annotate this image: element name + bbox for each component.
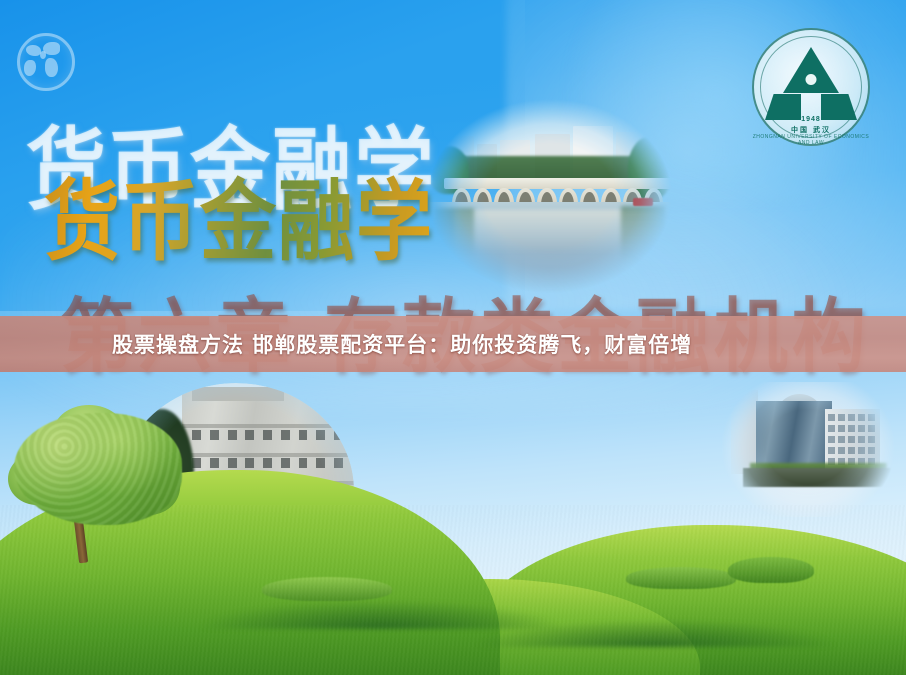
tree-crown bbox=[14, 413, 182, 525]
campus-window bbox=[334, 430, 343, 440]
modern-window bbox=[868, 436, 875, 442]
modern-window bbox=[858, 447, 865, 453]
photo-bridge bbox=[424, 96, 676, 296]
campus-window bbox=[228, 430, 237, 440]
campus-window bbox=[281, 430, 290, 440]
modern-window bbox=[848, 425, 855, 431]
emblem-latin-name: ZHONGNAN UNIVERSITY OF ECONOMICS AND LAW bbox=[752, 134, 870, 146]
course-title-gold: 货币金融学 bbox=[44, 150, 434, 278]
modern-window bbox=[838, 414, 845, 420]
university-emblem: 1948 中国 武汉 ZHONGNAN UNIVERSITY OF ECONOM… bbox=[752, 28, 870, 146]
modern-window bbox=[828, 414, 835, 420]
modern-window bbox=[868, 425, 875, 431]
campus-window bbox=[210, 430, 219, 440]
emblem-year: 1948 bbox=[752, 116, 870, 123]
modern-window bbox=[868, 447, 875, 453]
foreground-tree bbox=[14, 413, 182, 563]
emblem-center-dot bbox=[806, 74, 817, 85]
grass-ground bbox=[0, 460, 906, 675]
article-headline: 股票操盘方法 邯郸股票配资平台：助你投资腾飞，财富倍增 bbox=[112, 329, 692, 359]
modern-window bbox=[848, 414, 855, 420]
campus-window bbox=[245, 430, 254, 440]
modern-window bbox=[838, 436, 845, 442]
campus-window bbox=[192, 430, 201, 440]
modern-window bbox=[848, 447, 855, 453]
campus-window bbox=[299, 430, 308, 440]
modern-window bbox=[858, 414, 865, 420]
bridge-red-boat bbox=[633, 198, 653, 206]
modern-window bbox=[858, 425, 865, 431]
modern-window bbox=[868, 414, 875, 420]
modern-window bbox=[848, 436, 855, 442]
bridge-reflection-left bbox=[434, 208, 474, 260]
campus-facade-band bbox=[182, 453, 354, 457]
emblem-triangle-top bbox=[783, 47, 839, 93]
banner-image: 货币金融学 货币金融学 1948 中国 武汉 ZHONGNAN UNIVERSI… bbox=[0, 0, 906, 675]
campus-window bbox=[263, 430, 272, 440]
modern-window bbox=[828, 436, 835, 442]
modern-window bbox=[838, 425, 845, 431]
modern-window bbox=[828, 447, 835, 453]
article-title-bar: 股票操盘方法 邯郸股票配资平台：助你投资腾飞，财富倍增 bbox=[0, 316, 906, 372]
campus-roof-step bbox=[192, 387, 284, 401]
modern-window bbox=[828, 425, 835, 431]
campus-facade-band bbox=[182, 424, 354, 428]
bridge-reflection-right bbox=[621, 206, 666, 266]
globe-watermark-icon bbox=[17, 33, 75, 91]
modern-window bbox=[858, 436, 865, 442]
campus-window bbox=[316, 430, 325, 440]
modern-window bbox=[838, 447, 845, 453]
